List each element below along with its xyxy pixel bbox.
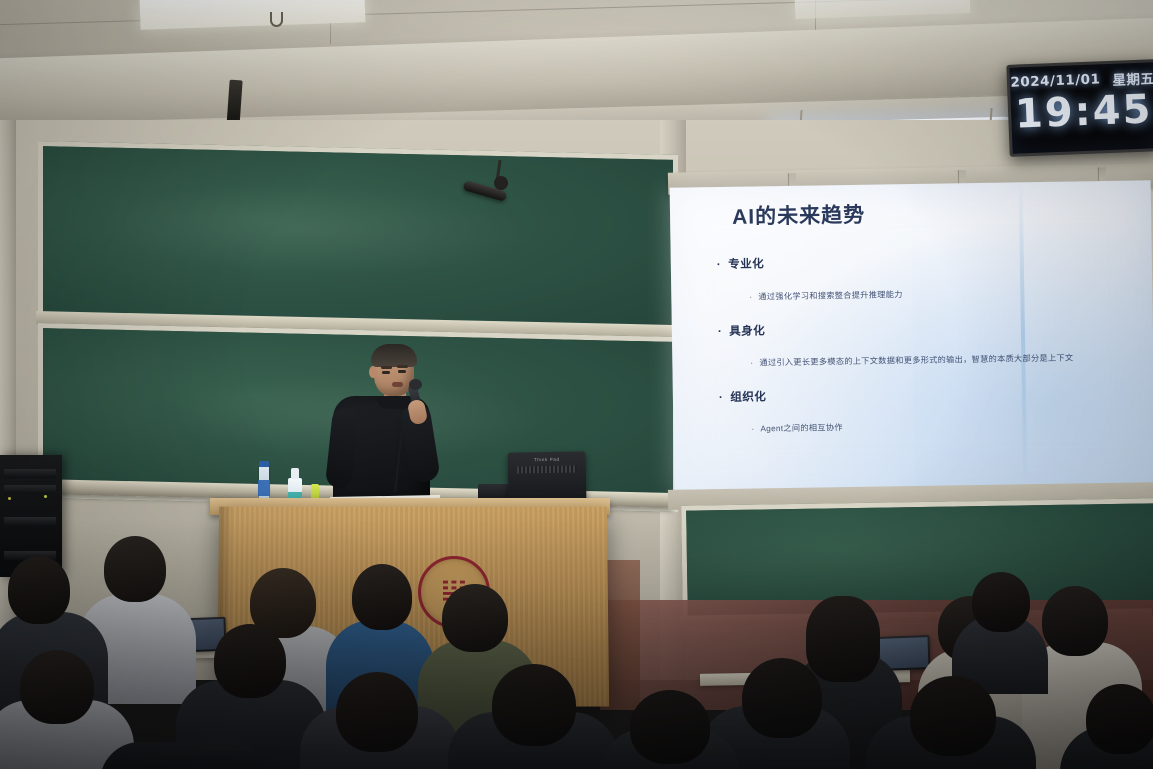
audience-shoulders	[100, 742, 270, 769]
bottle-cap	[259, 461, 269, 467]
audience-head	[352, 564, 412, 630]
digital-clock: 2024/11/01 星期五 19:45	[1006, 59, 1153, 157]
blackboard-surface	[43, 146, 673, 335]
clock-time: 19:45	[1010, 87, 1153, 137]
rack-status-led	[8, 497, 11, 500]
rack-status-led	[44, 495, 47, 498]
audience-head	[1042, 586, 1108, 656]
audience-head	[492, 664, 576, 746]
audience-head	[442, 584, 508, 652]
slide-subbullet-1: 通过强化学习和搜索整合提升推理能力	[749, 288, 902, 302]
sanitizer-pump	[291, 468, 299, 479]
audience-head	[742, 658, 822, 738]
presenter-brow	[381, 366, 392, 369]
audience-head	[20, 650, 94, 724]
slide-subbullet-2: 通过引入更长更多模态的上下文数据和更多形式的输出，智慧的本质大部分是上下文	[750, 351, 1073, 368]
presenter-mouth	[392, 382, 403, 387]
blackboard-upper	[38, 141, 678, 340]
slide-bullet-3: 组织化	[719, 388, 767, 405]
slide-title: AI的未来趋势	[732, 199, 865, 231]
ceiling-light-panel	[140, 0, 366, 30]
presenter-brow	[397, 365, 408, 368]
monitor-vent	[517, 465, 577, 473]
presenter-ear	[369, 366, 377, 378]
presentation-slide: AI的未来趋势 专业化 通过强化学习和搜索整合提升推理能力 具身化 通过引入更长…	[670, 180, 1153, 493]
chalk-residue	[93, 179, 534, 280]
bottle-label	[258, 480, 270, 496]
lecture-hall-photo: AI的未来趋势 专业化 通过强化学习和搜索整合提升推理能力 具身化 通过引入更长…	[0, 0, 1153, 769]
rack-unit	[4, 517, 56, 526]
mic-mount	[494, 176, 508, 190]
audience-head	[972, 572, 1030, 632]
audience-head	[630, 690, 710, 764]
presenter-eye	[382, 371, 390, 374]
audience-head	[1086, 684, 1153, 754]
microphone-head-icon	[409, 379, 422, 390]
audience-head	[336, 672, 418, 752]
rack-unit	[4, 485, 56, 494]
audience-head	[910, 676, 996, 756]
ceiling-light-panel	[795, 0, 971, 19]
projection-screen: AI的未来趋势 专业化 通过强化学习和搜索整合提升推理能力 具身化 通过引入更长…	[670, 180, 1153, 493]
audience-head	[104, 536, 166, 602]
slide-bullet-2: 具身化	[718, 322, 766, 339]
monitor-brand-label: Think Pad	[534, 457, 560, 462]
audience-head	[214, 624, 286, 698]
presenter-eye	[398, 370, 406, 373]
ceiling-hook-icon	[270, 12, 283, 27]
slide-bullet-1: 专业化	[717, 255, 765, 272]
audience-head-long-hair	[806, 596, 880, 682]
slide-subbullet-3: Agent之间的相互协作	[751, 421, 843, 434]
presenter-hair	[371, 344, 417, 367]
audience-head	[8, 556, 70, 624]
rack-unit	[4, 469, 56, 478]
podium-monitor: Think Pad	[508, 451, 587, 502]
